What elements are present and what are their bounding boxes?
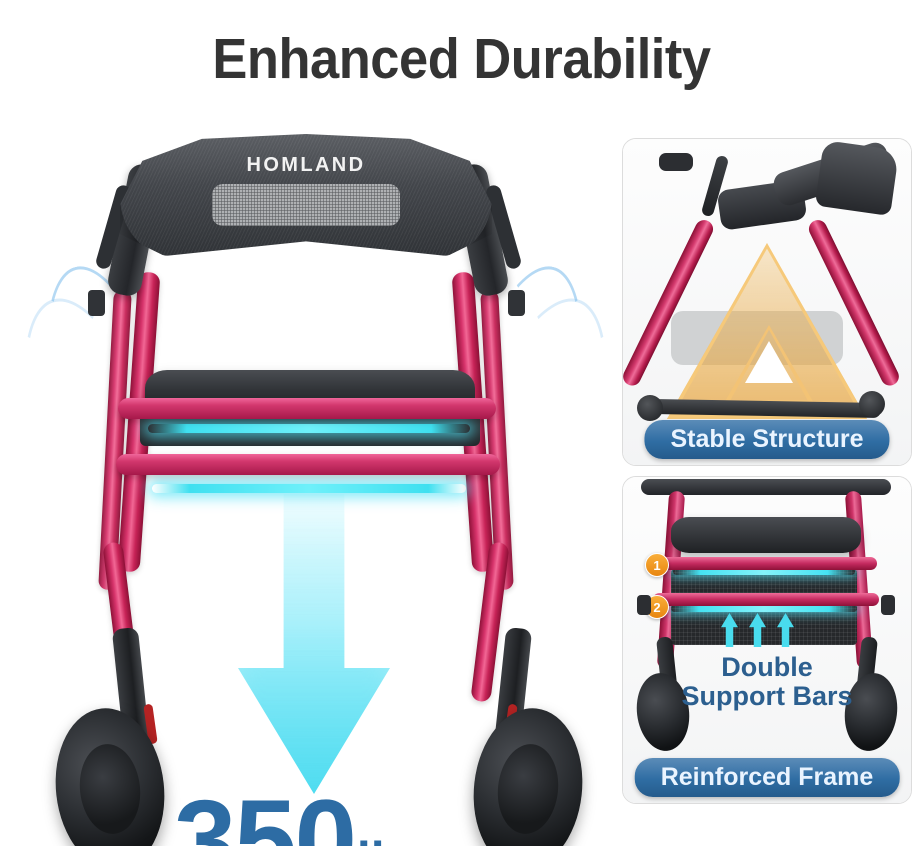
a-frame-foot-left [637,395,663,421]
support-bar-2-highlight [671,605,857,612]
frame-crossbar-lower [116,454,500,475]
wheel-hub-right [493,741,563,838]
support-bar-2 [653,593,879,606]
a-frame-foot-right [859,391,885,417]
inset-bottom-knob-right [881,595,895,615]
support-bar-glow-upper [148,424,470,433]
callout-badge-1: 1 [645,553,669,577]
support-bar-1 [655,557,877,570]
weight-capacity-unit: lbs [357,835,429,846]
inset-bottom-knob-left [637,595,651,615]
brand-logo-text: HOMLAND [120,154,492,177]
support-bar-glow-lower [152,484,466,493]
annotation-line-1: Double [623,653,911,682]
wheel-front-right [466,703,590,846]
hero-product-illustration: HOMLAND 350 lbs [0,112,612,846]
a-frame-armrest-pad [815,140,899,216]
double-support-bars-annotation: Double Support Bars [623,653,911,710]
inset-caption-stable-structure: Stable Structure [644,420,889,459]
inset-top-clip [659,153,693,171]
weight-capacity-callout: 350 lbs [174,788,429,846]
backrest-panel: HOMLAND [120,134,492,256]
page-title: Enhanced Durability [37,26,886,92]
frame-crossbar-upper [118,398,496,419]
inset-panel-reinforced-frame: 1 2 Double Support Bars Reinforced Frame [622,476,912,804]
annotation-line-2: Support Bars [623,682,911,711]
frame-knob-right [508,290,525,316]
load-direction-arrow-icon [238,494,390,794]
inset-bottom-seat-cushion [671,517,861,553]
backrest-mesh-panel [212,184,400,226]
weight-capacity-value: 350 [174,788,355,846]
inset-caption-reinforced-frame: Reinforced Frame [635,758,900,797]
inset-panel-stable-structure: Stable Structure [622,138,912,466]
product-feature-canvas: Enhanced Durability HOMLAND [0,0,923,846]
frame-knob-left [88,290,105,316]
wheel-hub-left [75,741,145,838]
